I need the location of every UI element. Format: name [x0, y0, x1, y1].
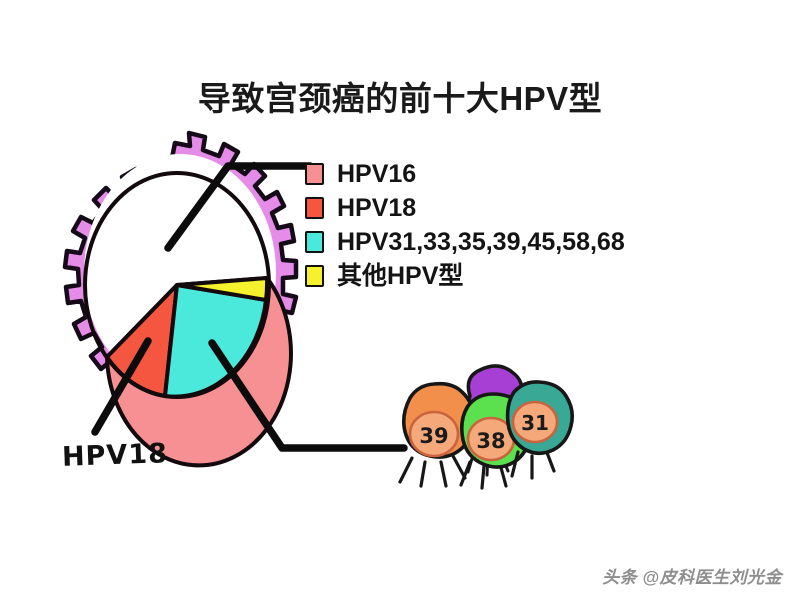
- virus-label-39: 39: [419, 424, 448, 448]
- legend-swatch-hpv31-group: [305, 231, 324, 253]
- pie-chart-illustration: 39 38: [0, 0, 800, 600]
- legend-swatch-hpv16: [305, 163, 324, 185]
- infographic-canvas: 导致宫颈癌的前十大HPV型: [0, 0, 800, 600]
- virus-character-31: 31: [508, 382, 573, 478]
- legend-item-hpv18: HPV18: [305, 192, 725, 224]
- legend-item-hpv16: HPV16: [305, 158, 725, 190]
- virus-characters: 39 38: [400, 366, 572, 488]
- virus-label-38: 38: [476, 429, 505, 453]
- hpv18-handwritten-callout: HPV18: [61, 438, 168, 473]
- legend-label-other: 其他HPV型: [337, 264, 463, 289]
- chart-legend: HPV16 HPV18 HPV31,33,35,39,45,58,68 其他HP…: [305, 158, 725, 294]
- legend-item-other: 其他HPV型: [305, 260, 725, 292]
- legend-label-hpv18: HPV18: [337, 196, 416, 221]
- legend-swatch-hpv18: [305, 197, 324, 219]
- watermark: 头条 @皮科医生刘光金: [602, 563, 782, 588]
- legend-swatch-other: [305, 265, 324, 287]
- virus-label-31: 31: [521, 411, 549, 435]
- legend-label-hpv16: HPV16: [337, 162, 416, 187]
- legend-item-hpv31-group: HPV31,33,35,39,45,58,68: [305, 226, 725, 258]
- legend-label-hpv31-group: HPV31,33,35,39,45,58,68: [337, 230, 625, 255]
